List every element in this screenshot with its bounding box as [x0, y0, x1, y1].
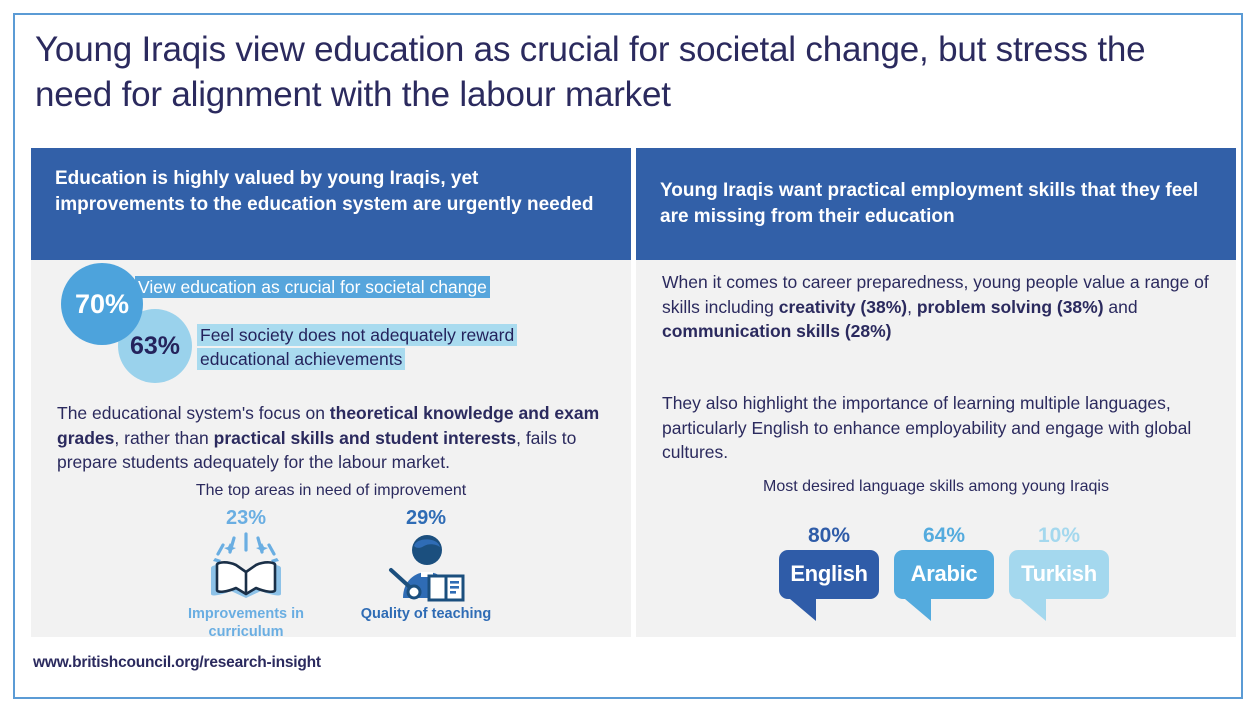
right-paragraph-1: When it comes to career preparedness, yo… — [662, 270, 1222, 344]
language-bubble: Turkish — [1009, 550, 1109, 599]
right-panel-body: When it comes to career preparedness, yo… — [636, 260, 1236, 637]
languages-title: Most desired language skills among young… — [636, 477, 1236, 497]
stat-label-63: Feel society does not adequately reward … — [197, 323, 587, 371]
improvement-percent: 29% — [351, 505, 501, 531]
improvement-percent: 23% — [171, 505, 321, 531]
improvement-label: Quality of teaching — [351, 605, 501, 623]
page-title: Young Iraqis view education as crucial f… — [35, 27, 1227, 117]
language-item-arabic: 64% Arabic — [894, 522, 994, 599]
language-percent: 64% — [894, 522, 994, 550]
improvement-item-curriculum: 23% — [171, 505, 321, 641]
stat-label-70: View education as crucial for societal c… — [135, 275, 490, 299]
stat-circle-70: 70% — [61, 263, 143, 345]
left-paragraph: The educational system's focus on theore… — [57, 401, 617, 475]
left-stats-group: 70% View education as crucial for societ… — [31, 260, 631, 390]
improvement-label: Improvements in curriculum — [171, 605, 321, 641]
improvement-title: The top areas in need of improvement — [31, 482, 631, 500]
footer-url[interactable]: www.britishcouncil.org/research-insight — [33, 654, 321, 672]
language-percent: 10% — [1009, 522, 1109, 550]
languages-items: 80% English 64% Arabic 10% Turkish — [779, 522, 1109, 599]
teacher-icon — [351, 531, 501, 605]
open-book-icon — [171, 531, 321, 605]
language-bubble: Arabic — [894, 550, 994, 599]
language-item-english: 80% English — [779, 522, 879, 599]
left-panel-body: 70% View education as crucial for societ… — [31, 260, 631, 637]
improvement-items: 23% — [171, 505, 501, 641]
infographic-page: Young Iraqis view education as crucial f… — [13, 13, 1243, 699]
language-percent: 80% — [779, 522, 879, 550]
left-panel-header: Education is highly valued by young Iraq… — [31, 148, 631, 260]
right-paragraph-2: They also highlight the importance of le… — [662, 391, 1202, 465]
improvement-item-teaching: 29% — [351, 505, 501, 641]
left-panel: Education is highly valued by young Iraq… — [31, 148, 631, 637]
language-bubble: English — [779, 550, 879, 599]
language-item-turkish: 10% Turkish — [1009, 522, 1109, 599]
right-panel: Young Iraqis want practical employment s… — [636, 148, 1236, 637]
right-panel-header: Young Iraqis want practical employment s… — [636, 148, 1236, 260]
